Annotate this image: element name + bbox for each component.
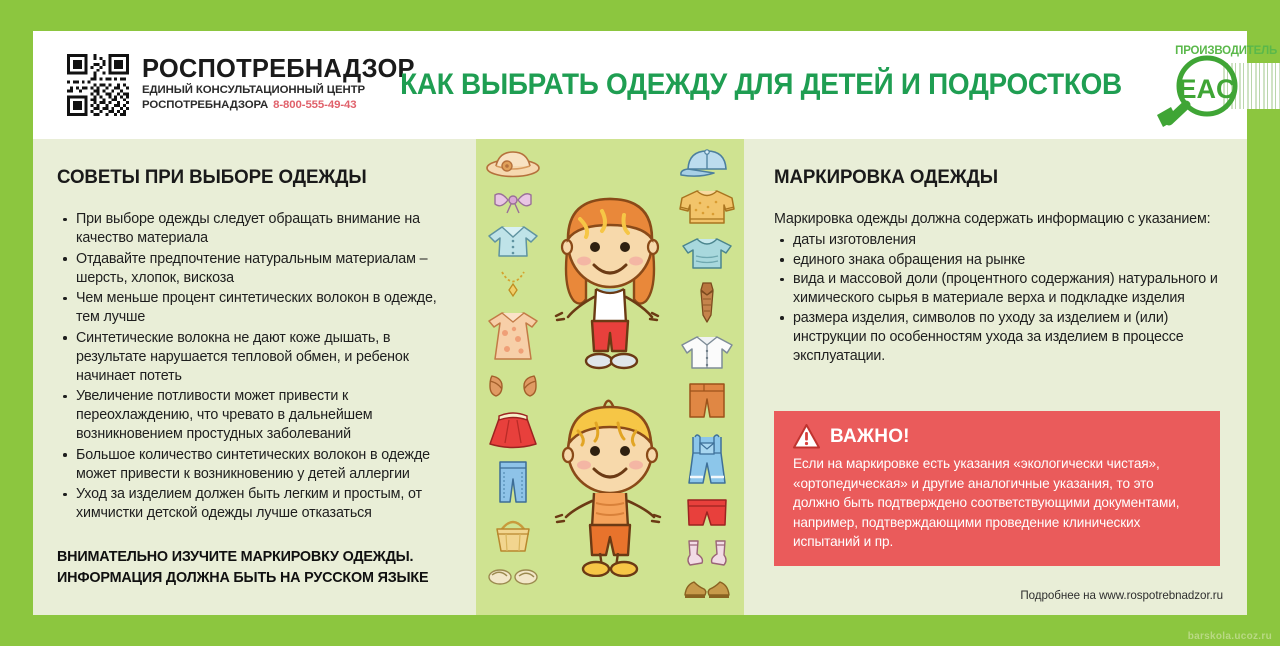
labeling-intro: Маркировка одежды должна содержать инфор… (774, 210, 1219, 229)
sun-hat-icon (485, 147, 541, 179)
left-clothing-icon-column (482, 147, 544, 597)
list-item: При выборе одежды следует обращать внима… (57, 210, 452, 248)
list-item: единого знака обращения на рынке (774, 251, 1219, 270)
advice-bullet-list: При выборе одежды следует обращать внима… (57, 210, 452, 523)
hair-bow-icon (492, 189, 534, 215)
shoes-icon (681, 577, 733, 601)
list-item: Уход за изделием должен быть легким и пр… (57, 485, 452, 523)
header-band: РОСПОТРЕБНАДЗОР ЕДИНЫЙ КОНСУЛЬТАЦИОННЫЙ … (33, 31, 1247, 139)
t-shirt-icon (679, 237, 735, 271)
hotline-phone[interactable]: 8-800-555-49-43 (268, 99, 356, 111)
brand-subtitle-line2: РОСПОТРЕБНАДЗОРА8-800-555-49-43 (142, 98, 415, 113)
brand-block: РОСПОТРЕБНАДЗОР ЕДИНЫЙ КОНСУЛЬТАЦИОННЫЙ … (33, 54, 373, 116)
brand-text-block: РОСПОТРЕБНАДЗОР ЕДИНЫЙ КОНСУЛЬТАЦИОННЫЙ … (129, 57, 415, 113)
labeling-bullet-list: даты изготовления единого знака обращени… (774, 231, 1219, 366)
boy-character (544, 391, 676, 577)
watermark: barskola.ucoz.ru (1188, 631, 1272, 642)
list-item: Синтетические волокна не дают коже дышат… (57, 329, 452, 386)
list-item: размера изделия, символов по уходу за из… (774, 309, 1219, 366)
labeling-panel: МАРКИРОВКА ОДЕЖДЫ Маркировка одежды долж… (744, 139, 1247, 615)
advice-panel: СОВЕТЫ ПРИ ВЫБОРЕ ОДЕЖДЫ При выборе одеж… (33, 139, 476, 615)
labeling-heading: МАРКИРОВКА ОДЕЖДЫ (774, 166, 1201, 189)
important-text: Если на маркировке есть указания «эколог… (793, 454, 1203, 552)
sandals-icon (486, 373, 540, 399)
eac-certification-badge: ПРОИЗВОДИТЕЛЬ EAC (1149, 35, 1280, 135)
list-item: даты изготовления (774, 231, 1219, 250)
necktie-icon (696, 281, 718, 325)
blouse-icon (486, 225, 540, 259)
important-title: ВАЖНО! (820, 426, 910, 448)
red-shorts-icon (683, 497, 731, 529)
list-item: Большое количество синтетических волокон… (57, 446, 452, 484)
girl-character (544, 181, 676, 371)
socks-icon (681, 539, 733, 567)
denim-overalls-icon (681, 431, 733, 487)
knit-sweater-icon (678, 189, 736, 227)
floral-dress-icon (485, 311, 541, 363)
white-shirt-icon (678, 335, 736, 371)
list-item: Увеличение потливости может привести к п… (57, 387, 452, 444)
brand-subtitle-line1: ЕДИНЫЙ КОНСУЛЬТАЦИОННЫЙ ЦЕНТР (142, 83, 415, 98)
brand-name: РОСПОТРЕБНАДЗОР (142, 57, 415, 83)
brown-shorts-icon (684, 381, 730, 421)
qr-code-icon (67, 54, 129, 116)
list-item: вида и массовой доли (процентного содерж… (774, 270, 1219, 308)
necklace-icon (495, 269, 531, 301)
basket-bag-icon (492, 515, 534, 555)
right-clothing-icon-column (676, 147, 738, 611)
blue-jeans-icon (493, 459, 533, 505)
content-area: СОВЕТЫ ПРИ ВЫБОРЕ ОДЕЖДЫ При выборе одеж… (33, 139, 1247, 615)
important-header: ВАЖНО! (793, 424, 1203, 449)
list-item: Отдавайте предпочтение натуральным матер… (57, 250, 452, 288)
advice-footer-line2: ИНФОРМАЦИЯ ДОЛЖНА БЫТЬ НА РУССКОМ ЯЗЫКЕ (57, 568, 446, 589)
advice-footer-line1: ВНИМАТЕЛЬНО ИЗУЧИТЕ МАРКИРОВКУ ОДЕЖДЫ. (57, 547, 446, 568)
slippers-icon (486, 565, 540, 587)
list-item: Чем меньше процент синтетических волокон… (57, 289, 452, 327)
baseball-cap-icon (679, 147, 735, 179)
brand-subtitle-org: РОСПОТРЕБНАДЗОРА (142, 99, 268, 111)
magnifier-icon: EAC (1155, 53, 1243, 131)
warning-triangle-icon (793, 424, 820, 449)
eac-mark-text: EAC (1179, 74, 1236, 104)
more-info-link[interactable]: Подробнее на www.rospotrebnadzor.ru (1020, 589, 1223, 602)
advice-footer-note: ВНИМАТЕЛЬНО ИЗУЧИТЕ МАРКИРОВКУ ОДЕЖДЫ. И… (57, 547, 446, 588)
page-title: КАК ВЫБРАТЬ ОДЕЖДУ ДЛЯ ДЕТЕЙ И ПОДРОСТКО… (400, 68, 1122, 102)
important-callout: ВАЖНО! Если на маркировке есть указания … (774, 411, 1220, 566)
red-skirt-icon (486, 409, 540, 449)
advice-heading: СОВЕТЫ ПРИ ВЫБОРЕ ОДЕЖДЫ (57, 166, 436, 189)
illustration-panel (476, 139, 744, 615)
poster-root: РОСПОТРЕБНАДЗОР ЕДИНЫЙ КОНСУЛЬТАЦИОННЫЙ … (0, 0, 1280, 646)
